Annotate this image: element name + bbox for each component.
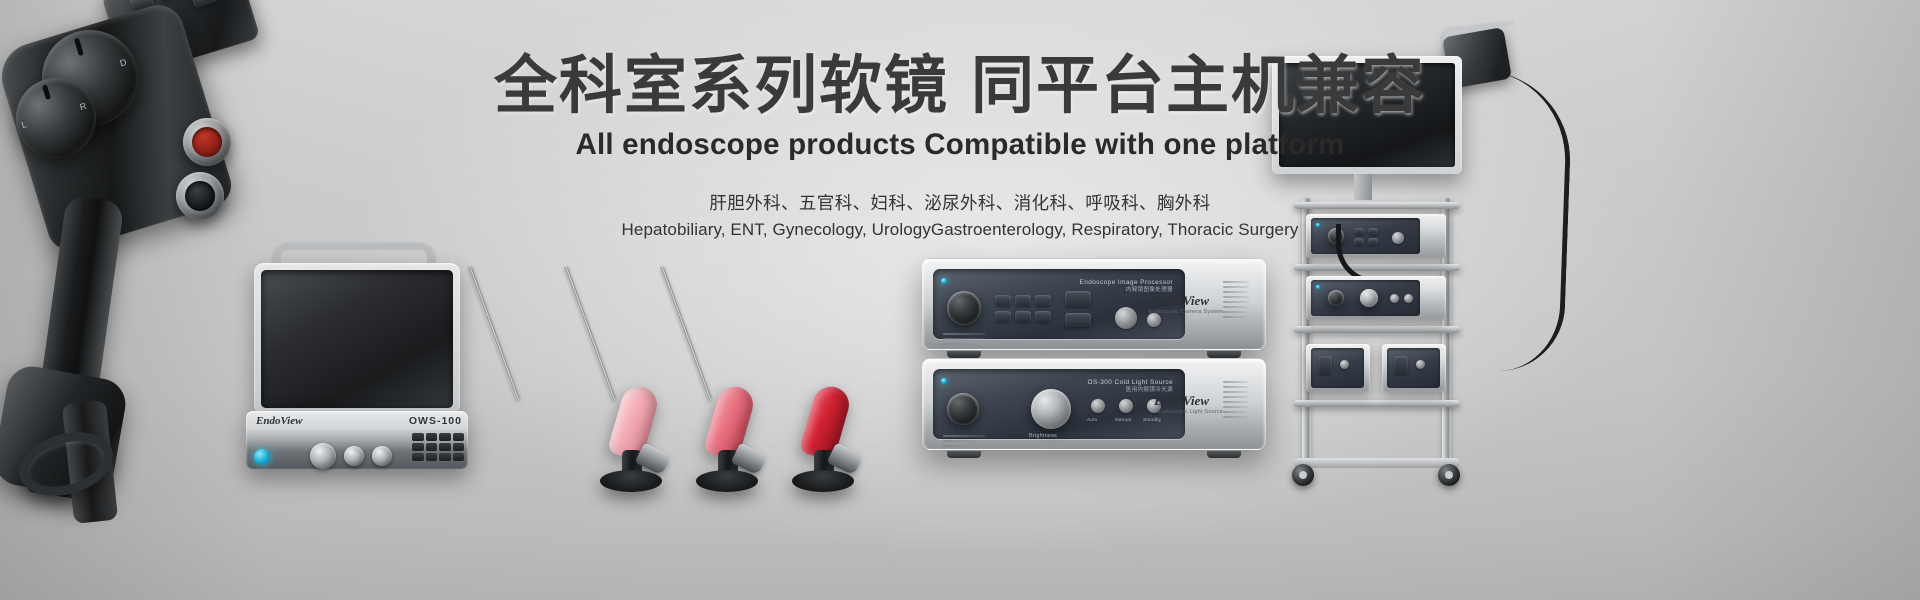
ows-key: [453, 433, 465, 441]
ows-key: [412, 453, 424, 461]
ows-key: [439, 453, 451, 461]
monitor-workstation-ows100: EndoView OWS-100: [236, 243, 486, 471]
console-light-port: [947, 393, 979, 425]
ows-display-bezel: [254, 263, 460, 415]
banner-subheadline: All endoscope products Compatible with o…: [0, 128, 1920, 162]
ows-power-indicator: [254, 449, 270, 465]
console-vent: [943, 435, 985, 450]
console-brightness-knob: [1031, 389, 1071, 429]
headline-part-2: 同平台主机兼容: [971, 51, 1426, 121]
cart-unit-display: [1318, 356, 1332, 374]
instrument-display-base: [792, 470, 854, 492]
console-cold-light-source: OS-300 Cold Light Source 医用内窥镜冷光源 Bright…: [922, 358, 1266, 450]
cart-base-frame: [1294, 458, 1460, 468]
console-knob-label: Brightness: [1029, 433, 1057, 439]
ows-display-screen: [261, 270, 453, 408]
console-button: [1035, 311, 1051, 322]
cart-unit-display: [1394, 356, 1408, 374]
cart-unit-light-source: [1306, 276, 1446, 320]
cart-shelf-3: [1294, 326, 1460, 333]
console-button: [1035, 295, 1051, 306]
console-power-indicator: [941, 278, 947, 284]
console-button: [995, 311, 1011, 322]
console-power-indicator: [941, 378, 947, 384]
cart-unit-button: [1390, 294, 1399, 303]
cart-unit-brightness-knob: [1360, 289, 1378, 307]
ows-key: [453, 453, 465, 461]
cart-unit-light-port: [1328, 290, 1344, 306]
ows-connector-port-1: [310, 443, 336, 469]
console-main-dial: [947, 291, 981, 325]
console-mode-button-manual: [1119, 399, 1133, 413]
laparoscopic-instrument-red: [704, 258, 854, 490]
ows-key: [412, 443, 424, 451]
console-brand-label: EndoView: [1154, 293, 1209, 309]
console-foot: [947, 351, 981, 358]
console-button-label-manual: Manual: [1115, 417, 1131, 422]
cart-unit-button: [1404, 294, 1413, 303]
ows-key: [439, 443, 451, 451]
ows-key: [439, 433, 451, 441]
console-mode-button-auto: [1091, 399, 1105, 413]
banner-headline: 全科室系列软镜同平台主机兼容: [0, 52, 1920, 120]
console-scope-port: [1115, 307, 1137, 329]
console-button-label-standby: Standby: [1143, 417, 1161, 422]
cart-wheel-right: [1438, 464, 1460, 486]
ows-key: [453, 443, 465, 451]
console-button-label-auto: Auto: [1087, 417, 1097, 422]
specialties-list-cn: 肝胆外科、五官科、妇科、泌尿外科、消化科、呼吸科、胸外科: [0, 190, 1920, 215]
console-vent: [943, 333, 985, 348]
console-button: [1015, 295, 1031, 306]
console-foot: [1207, 351, 1241, 358]
console-image-processor: Endoscope Image Processor 内窥镜图像处理器 EndoV…: [922, 258, 1266, 350]
ows-brand-label: EndoView: [256, 415, 302, 427]
console-front-panel: Endoscope Image Processor 内窥镜图像处理器: [933, 269, 1185, 339]
ows-connector-port-3: [372, 446, 392, 466]
scope-button-3: [190, 0, 218, 8]
ows-key: [426, 443, 438, 451]
ows-connector-port-2: [344, 446, 364, 466]
console-sub-label: Endoscopic Camera System: [1149, 309, 1223, 315]
banner-text-block: 全科室系列软镜同平台主机兼容 All endoscope products Co…: [0, 52, 1920, 240]
console-foot: [947, 451, 981, 458]
cart-shelf-4: [1294, 400, 1460, 407]
cart-wheel-left: [1292, 464, 1314, 486]
endoscope-product-banner: U D L R EndoView OWS-100: [0, 0, 1920, 600]
console-title-en: Endoscope Image Processor: [1080, 278, 1173, 287]
console-aux-port: [1147, 313, 1161, 327]
cart-unit-insufflator: [1306, 344, 1370, 392]
console-front-panel: OS-300 Cold Light Source 医用内窥镜冷光源 Bright…: [933, 369, 1185, 439]
console-port-usb: [1065, 313, 1091, 327]
console-side-vent: [1223, 381, 1249, 421]
cart-unit-button: [1340, 360, 1349, 369]
cart-unit-button: [1416, 360, 1425, 369]
specialties-list-en: Hepatobiliary, ENT, Gynecology, UrologyG…: [0, 220, 1920, 240]
console-title-en: OS-300 Cold Light Source: [1088, 378, 1173, 387]
console-side-vent: [1223, 281, 1249, 321]
headline-part-1: 全科室系列软镜: [494, 51, 949, 121]
ows-key: [426, 433, 438, 441]
ows-key: [412, 433, 424, 441]
ows-key: [426, 453, 438, 461]
console-button: [995, 295, 1011, 306]
console-sub-label: Endoscopic Light Source: [1158, 409, 1223, 415]
cart-unit-pump: [1382, 344, 1446, 392]
console-foot: [1207, 451, 1241, 458]
console-button: [1015, 311, 1031, 322]
console-port-hdmi: [1065, 291, 1091, 307]
ows-keypad: [412, 433, 464, 461]
cart-unit-indicator: [1316, 285, 1320, 289]
console-brand-label: EndoView: [1154, 393, 1209, 409]
ows-model-label: OWS-100: [409, 415, 462, 427]
